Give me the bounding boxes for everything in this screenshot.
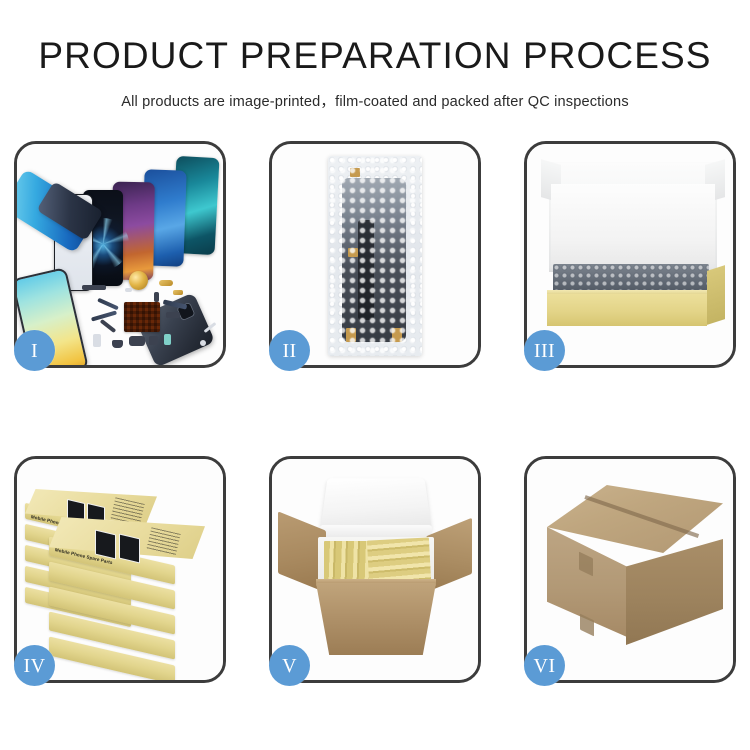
component-mic bbox=[125, 288, 132, 292]
component-ic-chip bbox=[149, 336, 158, 345]
step-badge-2: II bbox=[269, 330, 310, 371]
page-header: PRODUCT PREPARATION PROCESS All products… bbox=[0, 36, 750, 111]
component-vibrator bbox=[129, 336, 145, 346]
component-gold-tab bbox=[173, 290, 183, 295]
foam-sheet bbox=[551, 184, 715, 264]
bag-tape-tab-top bbox=[350, 168, 360, 177]
component-gold-connector bbox=[159, 280, 173, 286]
process-step-panel-6: VI bbox=[524, 456, 736, 683]
component-module bbox=[166, 312, 180, 318]
step-6-image bbox=[527, 459, 733, 680]
bubble-wrap-bag bbox=[328, 156, 422, 356]
yellow-boxes-row-right bbox=[367, 537, 431, 582]
step-1-image bbox=[17, 144, 223, 365]
component-antenna-cable bbox=[100, 319, 117, 333]
yellow-box-side bbox=[707, 265, 725, 325]
step-badge-6: VI bbox=[524, 645, 565, 686]
page-title: PRODUCT PREPARATION PROCESS bbox=[0, 36, 750, 77]
step-2-image bbox=[272, 144, 478, 365]
step-4-image: Mobile Phone Spare Parts Mobile Phone Sp… bbox=[17, 459, 223, 680]
step-badge-1: I bbox=[14, 330, 55, 371]
component-battery-connector bbox=[164, 334, 171, 345]
bag-tape-tab-mid bbox=[348, 248, 358, 257]
box-stack: Mobile Phone Spare Parts Mobile Phone Sp… bbox=[17, 459, 223, 680]
component-speaker bbox=[82, 285, 106, 290]
process-step-panel-4: Mobile Phone Spare Parts Mobile Phone Sp… bbox=[14, 456, 226, 683]
component-small-chip bbox=[154, 292, 159, 302]
step-5-image bbox=[272, 459, 478, 680]
process-step-panel-1: I bbox=[14, 141, 226, 368]
step-badge-3: III bbox=[524, 330, 565, 371]
foam-box-lid bbox=[320, 478, 432, 531]
process-step-panel-2: II bbox=[269, 141, 481, 368]
step-badge-4: IV bbox=[14, 645, 55, 686]
component-flex-cable-1 bbox=[97, 298, 119, 311]
box-label-screen-front-2 bbox=[119, 534, 140, 564]
page-subtitle: All products are image-printed，film-coat… bbox=[0, 90, 750, 111]
process-step-panel-3: III bbox=[524, 141, 736, 368]
wrapped-phone-screen bbox=[342, 178, 406, 342]
process-step-panel-5: V bbox=[269, 456, 481, 683]
box-label-screen-front-1 bbox=[95, 530, 116, 560]
process-steps-grid: I II bbox=[14, 141, 736, 683]
component-screw bbox=[200, 340, 206, 346]
product-preparation-process-page: PRODUCT PREPARATION PROCESS All products… bbox=[0, 0, 750, 750]
component-sim-tray bbox=[93, 334, 101, 347]
bag-tape-tab-bottom-right bbox=[392, 328, 402, 342]
step-3-image bbox=[527, 144, 733, 365]
component-receiver bbox=[112, 340, 123, 348]
camera-lens-part bbox=[129, 271, 148, 290]
yellow-box-front bbox=[547, 294, 707, 326]
step-badge-5: V bbox=[269, 645, 310, 686]
circuit-board-part bbox=[124, 302, 160, 332]
bag-tape-tab-bottom-left bbox=[346, 328, 356, 342]
carton-right-face bbox=[626, 539, 723, 645]
carton-front-face bbox=[316, 583, 436, 655]
